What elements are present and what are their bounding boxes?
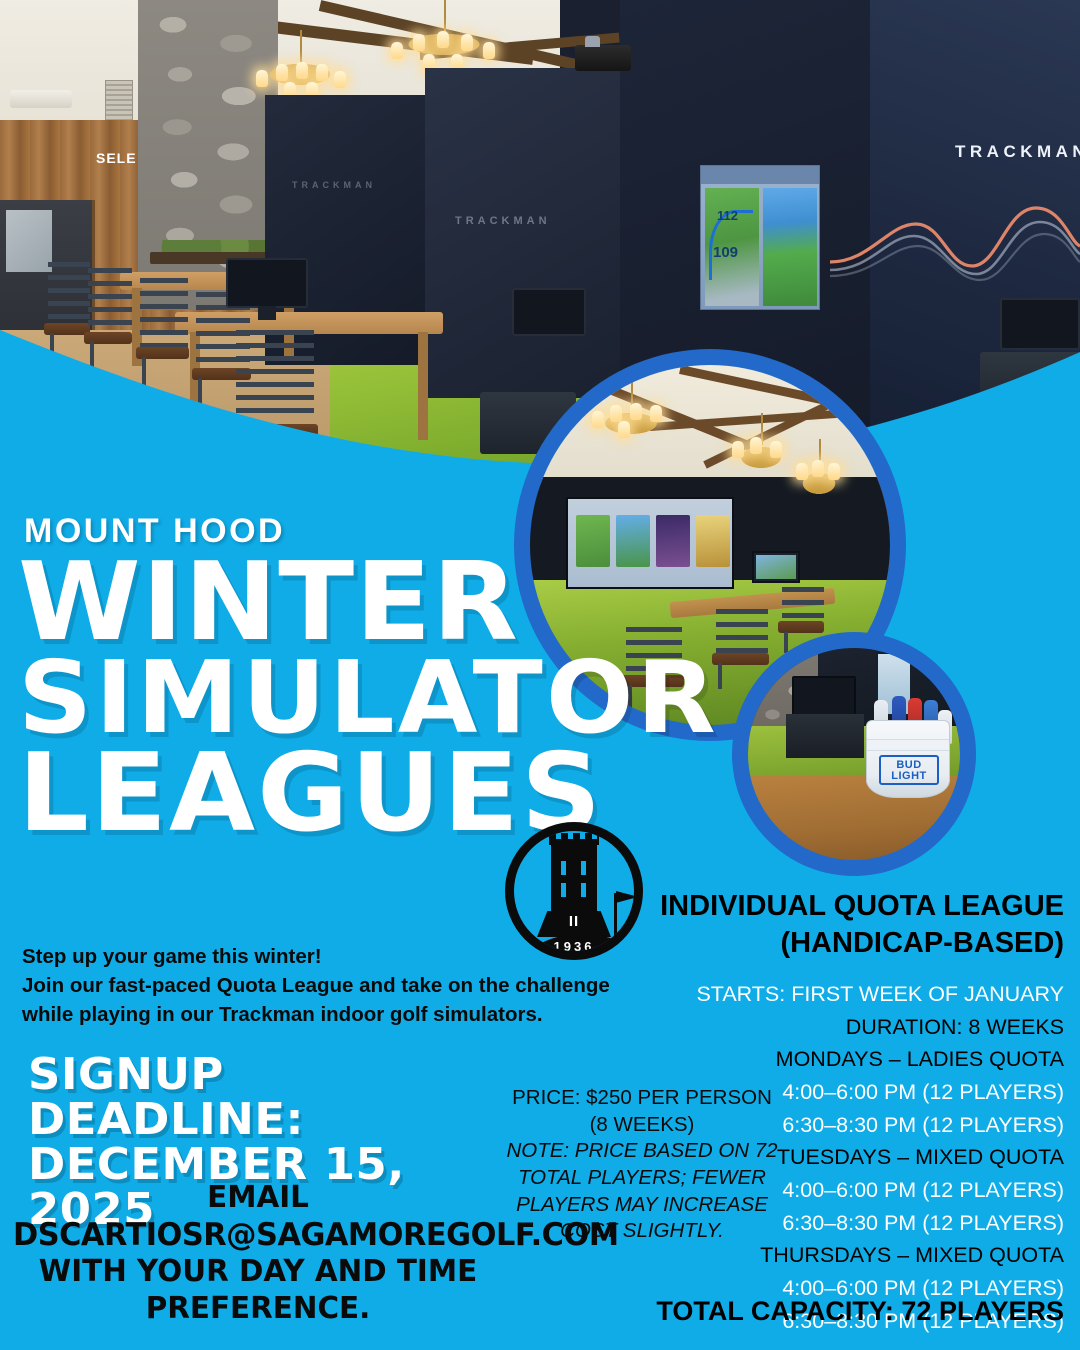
chandelier-icon <box>728 413 794 461</box>
badge-roman-numeral: II <box>569 913 579 930</box>
contact-label-email: EMAIL <box>13 1180 503 1217</box>
contact-email-address[interactable]: DSCARTIOSR@SAGAMOREGOLF.COM <box>13 1217 503 1255</box>
league-schedule-list: STARTS: FIRST WEEK OF JANUARYDURATION: 8… <box>594 978 1064 1337</box>
schedule-row: 4:00–6:00 PM (12 PLAYERS) <box>594 1076 1064 1109</box>
flyer-canvas: TRACKMAN TRACKMAN TRACKMAN 112 109 SELE <box>0 0 1080 1350</box>
inset-monitor <box>752 551 800 583</box>
schedule-row: THURSDAYS – MIXED QUOTA <box>594 1239 1064 1272</box>
signup-line-1: SIGNUP DEADLINE: <box>28 1053 507 1143</box>
tower-crown-icon <box>549 833 599 845</box>
schedule-row: 6:30–8:30 PM (12 PLAYERS) <box>594 1109 1064 1142</box>
bud-light-bucket: BUD LIGHT <box>866 720 950 798</box>
league-title-line-2: (HANDICAP-BASED) <box>594 925 1064 962</box>
bud-light-logo: BUD LIGHT <box>879 755 939 785</box>
chandelier-icon <box>792 439 846 481</box>
contact-instruction-line-2: PREFERENCE. <box>13 1291 503 1328</box>
contact-block: EMAIL DSCARTIOSR@SAGAMOREGOLF.COM WITH Y… <box>13 1180 503 1328</box>
contact-instruction-line-1: WITH YOUR DAY AND TIME <box>13 1254 503 1291</box>
league-title: INDIVIDUAL QUOTA LEAGUE (HANDICAP-BASED) <box>594 888 1064 962</box>
headline-line-1: WINTER <box>18 553 718 652</box>
photo-inset-bud-light-bucket: BUD LIGHT <box>748 648 960 860</box>
inset-cabinet <box>786 714 864 758</box>
schedule-row: STARTS: FIRST WEEK OF JANUARY <box>594 978 1064 1011</box>
schedule-row: TUESDAYS – MIXED QUOTA <box>594 1141 1064 1174</box>
headline-line-3: LEAGUES <box>18 744 718 843</box>
schedule-row: MONDAYS – LADIES QUOTA <box>594 1043 1064 1076</box>
schedule-row: DURATION: 8 WEEKS <box>594 1011 1064 1044</box>
chandelier-icon <box>588 379 674 437</box>
total-capacity: TOTAL CAPACITY: 72 PLAYERS <box>594 1296 1064 1327</box>
league-title-line-1: INDIVIDUAL QUOTA LEAGUE <box>594 888 1064 925</box>
page-title: WINTER SIMULATOR LEAGUES <box>18 553 718 844</box>
schedule-row: 6:30–8:30 PM (12 PLAYERS) <box>594 1207 1064 1240</box>
inset-monitor <box>792 676 856 718</box>
tower-icon <box>551 839 597 917</box>
schedule-row: 4:00–6:00 PM (12 PLAYERS) <box>594 1174 1064 1207</box>
